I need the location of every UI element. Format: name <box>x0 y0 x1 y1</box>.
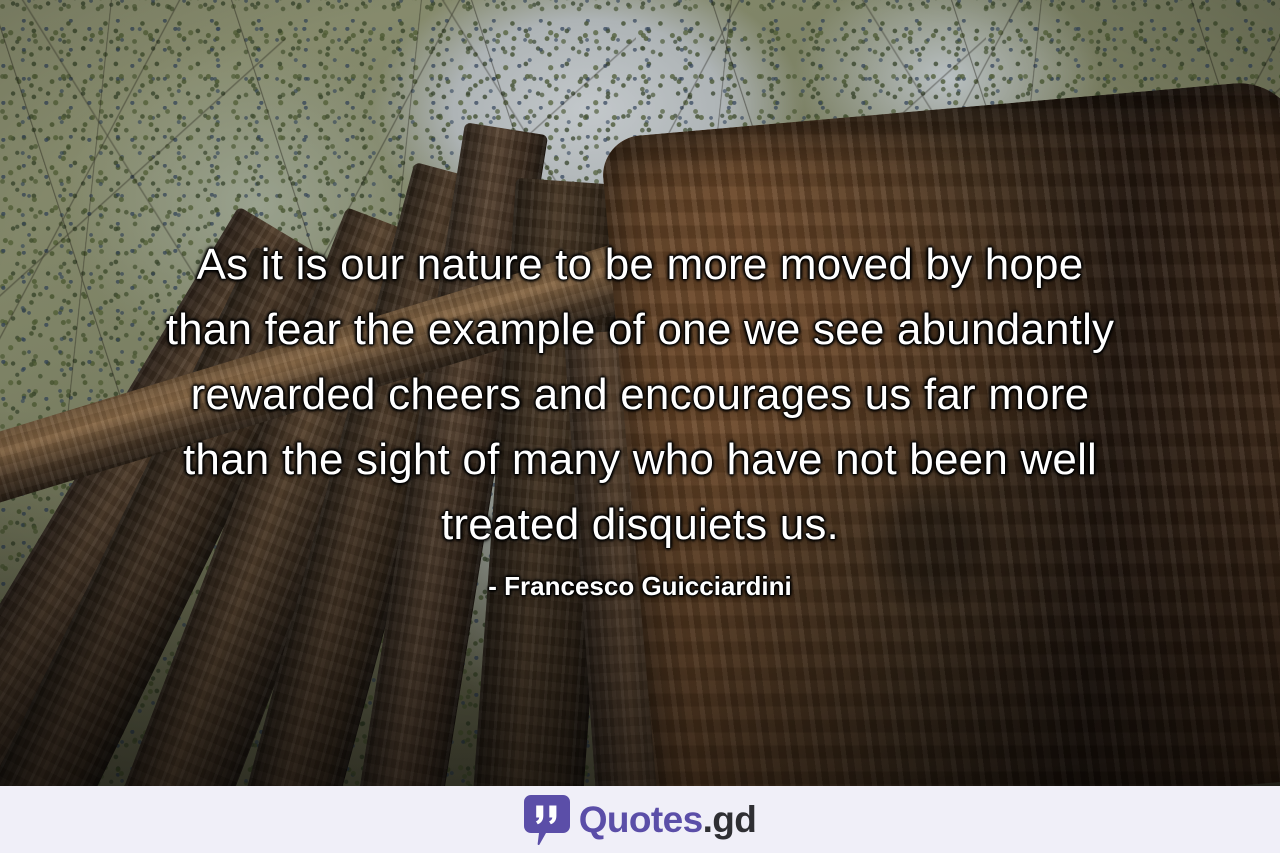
quote-line-4: than the sight of many who have not been… <box>60 427 1220 492</box>
quote-author: - Francesco Guicciardini <box>60 569 1220 603</box>
quote-line-2: than fear the example of one we see abun… <box>60 297 1220 362</box>
quote-image-page: As it is our nature to be more moved by … <box>0 0 1280 853</box>
brand-name: Quotes <box>579 799 703 840</box>
quote-line-5: treated disquiets us. <box>60 492 1220 557</box>
site-logo[interactable]: Quotes.gd <box>524 795 757 845</box>
brand-tld: .gd <box>703 799 757 840</box>
quote-bubble-icon <box>524 795 570 845</box>
quote-line-1: As it is our nature to be more moved by … <box>60 232 1220 297</box>
brand-wordmark: Quotes.gd <box>579 801 757 838</box>
quote-block: As it is our nature to be more moved by … <box>0 232 1280 603</box>
quote-line-3: rewarded cheers and encourages us far mo… <box>60 362 1220 427</box>
footer-bar: Quotes.gd <box>0 786 1280 853</box>
